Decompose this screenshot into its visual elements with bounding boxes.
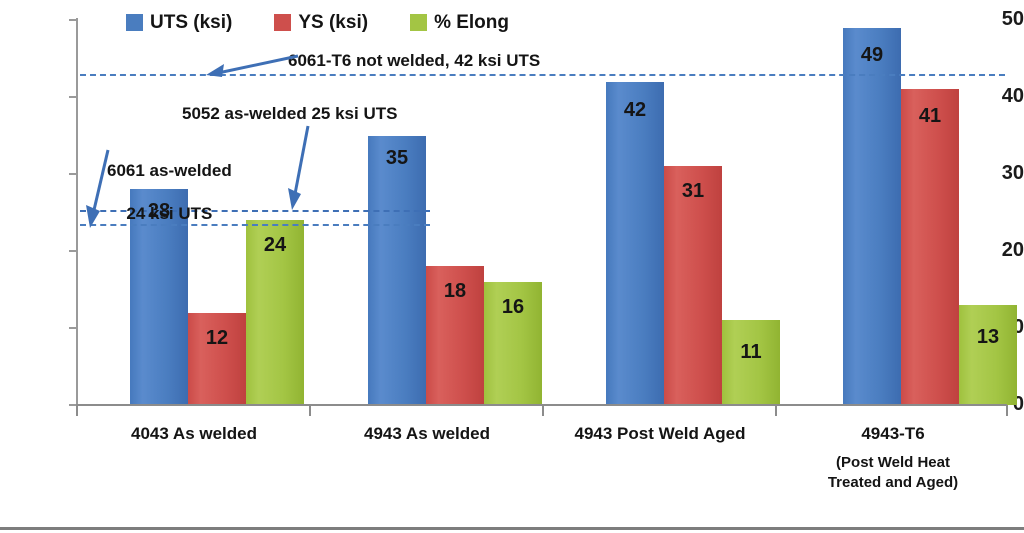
x-tick-3	[775, 405, 777, 416]
bar-value-elong-pwa: 11	[722, 342, 780, 362]
bar-value-uts-4943: 35	[368, 148, 426, 168]
annotation-arrow-42ksi	[200, 52, 300, 80]
category-label-4943-post-weld-aged: 4943 Post Weld Aged	[544, 423, 776, 446]
bar-value-ys-4943: 18	[426, 281, 484, 301]
category-label-4943-as-welded: 4943 As welded	[311, 423, 543, 446]
x-tick-0	[76, 405, 78, 416]
annotation-6061-line1: 6061 as-welded	[107, 161, 232, 180]
bar-ys-4943-as-welded: 18	[426, 266, 484, 405]
category-sub-line1: (Post Weld Heat	[836, 454, 950, 471]
x-tick-2	[542, 405, 544, 416]
annotation-6061-as-welded: 6061 as-welded 24 ksi UTS	[107, 139, 232, 224]
bar-elong-4943-as-welded: 16	[484, 282, 542, 405]
category-label-4943-t6-sub: (Post Weld Heat Treated and Aged)	[777, 453, 1009, 494]
annotation-6061-line2: 24 ksi UTS	[126, 204, 212, 223]
category-label-4943-t6: 4943-T6 (Post Weld Heat Treated and Aged…	[777, 423, 1009, 493]
bottom-divider	[0, 527, 1024, 530]
bar-value-uts-t6: 49	[843, 45, 901, 65]
bar-ys-4043-as-welded: 12	[188, 313, 246, 405]
annotation-arrow-24ksi	[84, 148, 114, 230]
reference-line-24ksi	[80, 224, 430, 226]
category-label-4043-as-welded: 4043 As welded	[78, 423, 310, 446]
bar-value-uts-pwa: 42	[606, 100, 664, 120]
category-label-4943-t6-main: 4943-T6	[861, 424, 924, 443]
bar-uts-4943-as-welded: 35	[368, 136, 426, 406]
bar-value-elong-4043: 24	[246, 235, 304, 255]
bar-value-elong-t6: 13	[959, 327, 1017, 347]
bar-ys-4943-post-weld-aged: 31	[664, 166, 722, 405]
bar-value-elong-4943: 16	[484, 297, 542, 317]
bar-value-ys-4043: 12	[188, 328, 246, 348]
x-tick-4	[1006, 405, 1008, 416]
bar-elong-4043-as-welded: 24	[246, 220, 304, 405]
bar-value-ys-t6: 41	[901, 106, 959, 126]
bar-ys-4943-t6: 41	[901, 89, 959, 405]
bar-value-ys-pwa: 31	[664, 181, 722, 201]
bar-uts-4943-post-weld-aged: 42	[606, 82, 664, 405]
annotation-6061-t6-not-welded: 6061-T6 not welded, 42 ksi UTS	[288, 50, 540, 71]
x-tick-1	[309, 405, 311, 416]
annotation-5052-as-welded: 5052 as-welded 25 ksi UTS	[182, 103, 397, 124]
annotation-arrow-25ksi	[286, 124, 316, 212]
y-axis-title: Ksi	[0, 193, 3, 219]
category-sub-line2: Treated and Aged)	[828, 474, 958, 491]
bar-elong-4943-post-weld-aged: 11	[722, 320, 780, 405]
bar-elong-4943-t6: 13	[959, 305, 1017, 405]
chart-screenshot: UTS (ksi) YS (ksi) % Elong 50 40 30 20 1…	[0, 0, 1024, 533]
bar-uts-4943-t6: 49	[843, 28, 901, 405]
